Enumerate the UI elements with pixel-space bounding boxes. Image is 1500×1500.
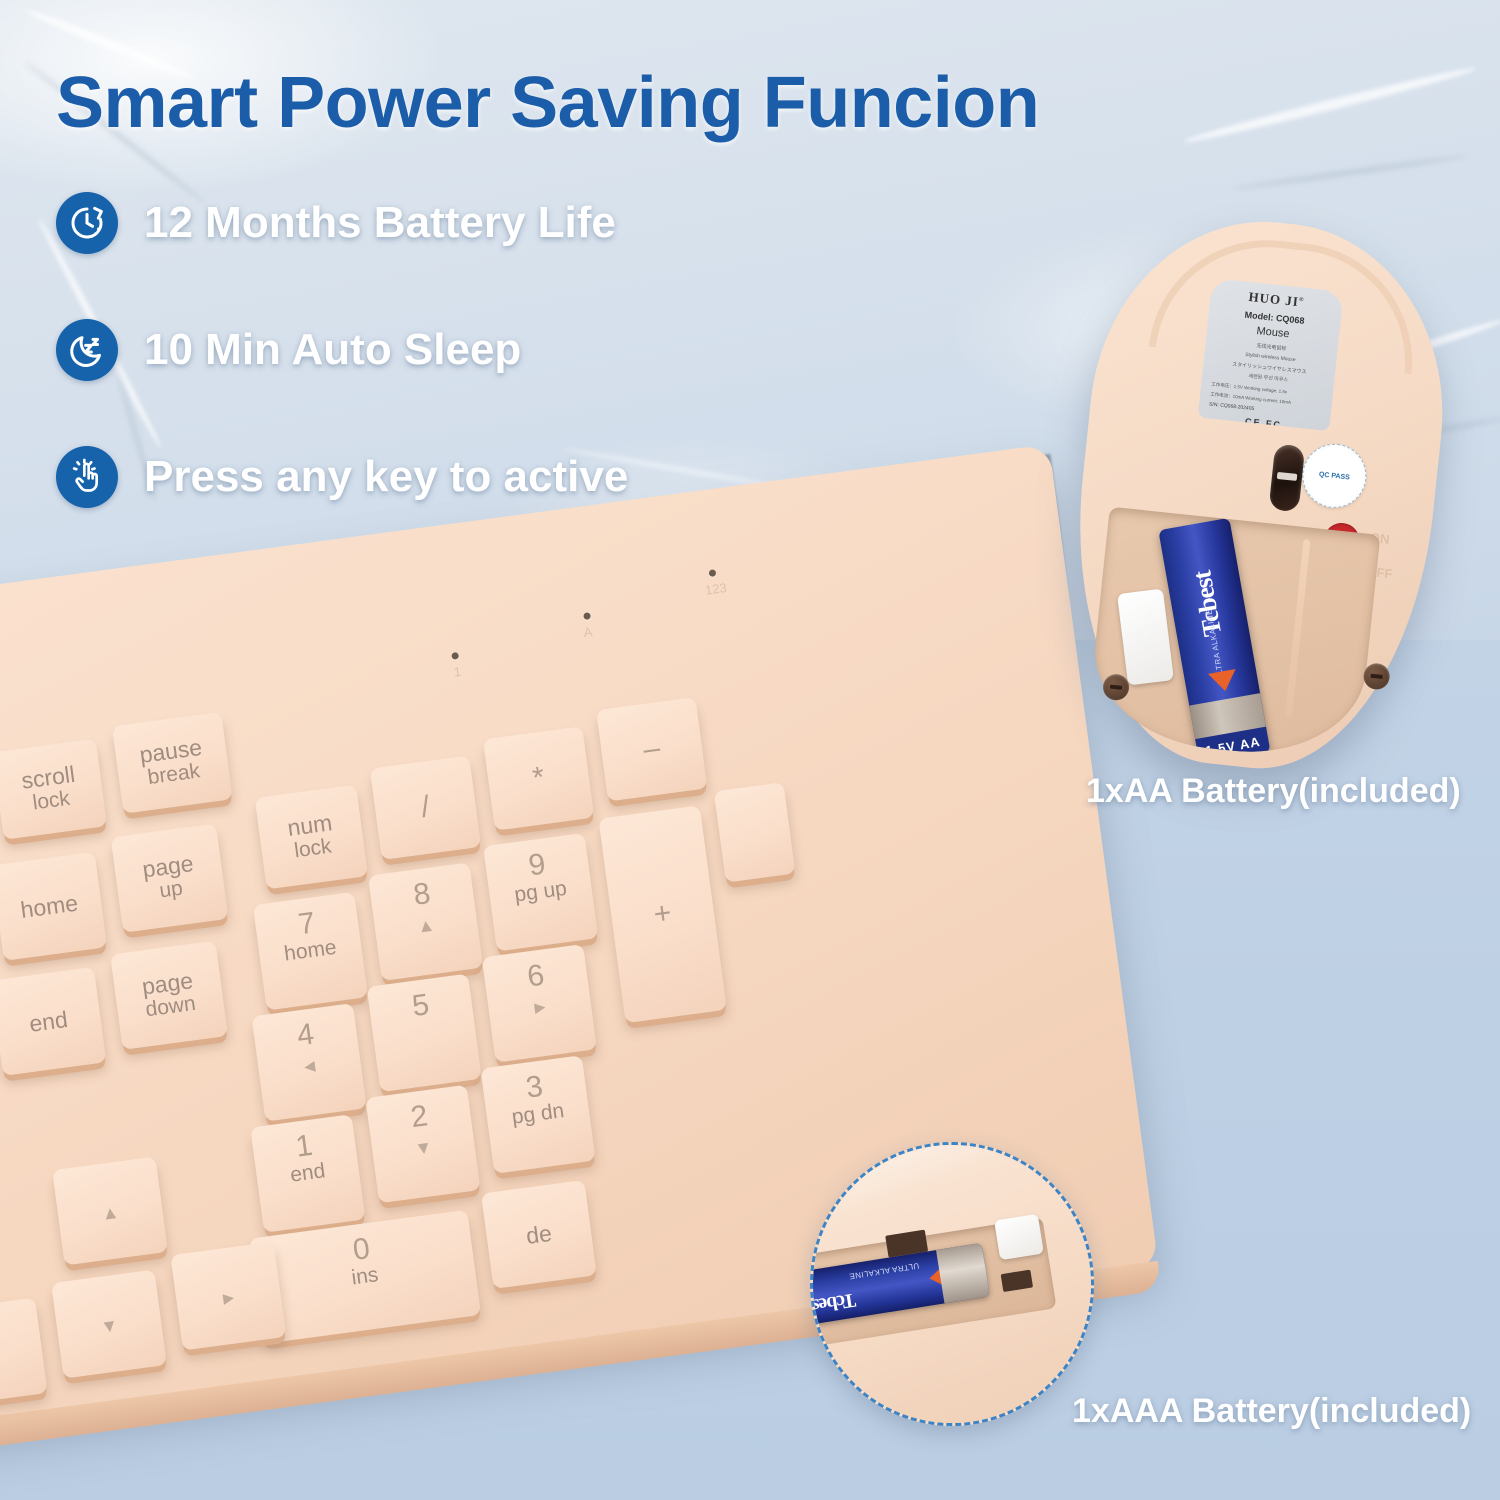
key-sublabel: end — [289, 1161, 327, 1188]
key-label: 5 — [410, 989, 431, 1023]
inset-usb-receiver — [994, 1214, 1044, 1260]
key-multiply[interactable]: * — [483, 726, 594, 830]
led-indicator-scrolllock — [709, 569, 717, 577]
key-sublabel: break — [146, 760, 201, 789]
key-sublabel: home — [283, 937, 338, 966]
inset-keyboard-surface: Tcbest ULTRA ALKALINE — [810, 1142, 1094, 1426]
key-label: ▼ — [99, 1316, 119, 1338]
key-page-up[interactable]: page up — [111, 824, 229, 933]
key-arrow-left[interactable]: ◄ — [0, 1298, 48, 1407]
moon-sleep-icon — [56, 319, 118, 381]
caption-aa-battery: 1xAA Battery(included) — [1086, 772, 1461, 811]
key-label: 2 — [409, 1100, 430, 1134]
usb-receiver-dongle — [1117, 589, 1174, 686]
key-label: 9 — [527, 848, 548, 882]
battery-brand: Tcbest — [810, 1287, 857, 1317]
key-sublabel: lock — [31, 788, 71, 815]
key-label: 1 — [294, 1130, 315, 1164]
key-label: + — [652, 897, 674, 931]
key-scroll-lock[interactable]: scroll lock — [0, 739, 107, 840]
feature-label: 10 Min Auto Sleep — [144, 328, 521, 372]
key-enter-top[interactable] — [714, 782, 796, 882]
key-sublabel: pg up — [513, 878, 568, 907]
key-label: * — [531, 762, 547, 796]
key-num3[interactable]: 3 pg dn — [480, 1055, 595, 1174]
key-arrow-up[interactable]: ▲ — [52, 1156, 168, 1265]
tap-hand-icon — [56, 446, 118, 508]
key-arrow-down[interactable]: ▼ — [51, 1270, 167, 1379]
key-label: / — [419, 791, 432, 824]
key-label: 0 — [351, 1233, 372, 1267]
key-label: end — [28, 1007, 69, 1037]
keyboard-battery-inset: Tcbest ULTRA ALKALINE — [810, 1142, 1094, 1426]
key-divide[interactable]: / — [370, 755, 481, 859]
key-num6[interactable]: 6 ► — [482, 944, 597, 1063]
key-num8[interactable]: 8 ▲ — [368, 862, 483, 981]
key-sublabel: ▲ — [416, 916, 436, 938]
key-sublabel: up — [158, 878, 184, 904]
key-label: – — [641, 732, 662, 766]
qc-pass-text: QC PASS — [1319, 471, 1351, 481]
key-label: de — [525, 1220, 554, 1248]
key-arrow-right[interactable]: ► — [170, 1242, 286, 1351]
key-label: ► — [219, 1288, 239, 1310]
key-label: 6 — [525, 960, 546, 994]
feature-item-battery-life: 12 Months Battery Life — [56, 180, 816, 266]
key-delete-right[interactable]: de — [481, 1180, 597, 1289]
mouse-spec-label: HUO JI® Model: CQ068 Mouse 无线光电鼠标 Stylis… — [1198, 278, 1344, 431]
caption-aaa-battery: 1xAAA Battery(included) — [1072, 1392, 1471, 1431]
key-label: ▲ — [100, 1203, 120, 1225]
battery-chevron-logo — [1208, 669, 1239, 694]
clock-arrow-icon — [56, 192, 118, 254]
qc-pass-sticker: QC PASS — [1299, 441, 1369, 511]
key-num9[interactable]: 9 pg up — [483, 833, 598, 952]
led-indicator-numlock — [451, 652, 459, 660]
page-title: Smart Power Saving Funcion — [56, 62, 1316, 144]
led-label-numlock: 1 — [453, 664, 462, 680]
aa-battery: Tcbest ULTRA ALKALINE 1.5V AA — [1158, 518, 1270, 764]
key-label: 8 — [412, 878, 433, 912]
key-num7[interactable]: 7 home — [253, 892, 368, 1011]
led-label-capslock: A — [583, 624, 594, 640]
key-label: 4 — [295, 1019, 316, 1053]
product-feature-image: Smart Power Saving Funcion 12 Months Bat… — [0, 0, 1500, 1500]
battery-subtitle: ULTRA ALKALINE — [848, 1261, 919, 1281]
led-label-scrolllock: 123 — [704, 580, 727, 598]
key-sublabel: ◄ — [300, 1057, 320, 1079]
feature-item-auto-sleep: 10 Min Auto Sleep — [56, 307, 816, 393]
key-label: home — [19, 890, 79, 922]
key-end[interactable]: end — [0, 967, 106, 1076]
feature-label: 12 Months Battery Life — [144, 201, 616, 245]
screw — [1362, 662, 1391, 691]
key-sublabel: pg dn — [511, 1100, 566, 1129]
key-sublabel: ▼ — [413, 1138, 433, 1160]
key-label: 3 — [524, 1071, 545, 1105]
mouse-detail-plane: HUO JI® Model: CQ068 Mouse 无线光电鼠标 Stylis… — [1054, 205, 1461, 784]
led-indicator-capslock — [583, 612, 591, 620]
key-num4[interactable]: 4 ◄ — [252, 1003, 367, 1122]
battery-contact-tab — [1001, 1270, 1033, 1292]
key-sublabel: down — [144, 993, 197, 1022]
bay-divider — [1285, 539, 1311, 719]
optical-sensor — [1269, 444, 1306, 513]
feature-label: Press any key to active — [144, 455, 628, 499]
key-minus[interactable]: – — [596, 697, 707, 801]
key-sublabel: ins — [350, 1265, 380, 1291]
key-label: 7 — [296, 907, 317, 941]
trademark-symbol: ® — [1299, 297, 1305, 304]
key-page-down[interactable]: page down — [110, 941, 228, 1050]
key-plus[interactable]: + — [598, 805, 726, 1023]
key-sublabel: ► — [530, 998, 550, 1020]
key-num-lock[interactable]: num lock — [255, 785, 368, 890]
key-home[interactable]: home — [0, 852, 107, 961]
key-num5[interactable]: 5 — [367, 974, 482, 1093]
battery-positive-cap — [936, 1243, 990, 1304]
key-pause-break[interactable]: pause break — [112, 712, 233, 814]
key-sublabel: lock — [293, 836, 333, 863]
key-num1[interactable]: 1 end — [250, 1114, 365, 1233]
battery-compartment: Tcbest ULTRA ALKALINE 1.5V AA — [1086, 507, 1381, 764]
mouse: HUO JI® Model: CQ068 Mouse 无线光电鼠标 Stylis… — [1082, 222, 1472, 792]
key-num2[interactable]: 2 ▼ — [365, 1085, 480, 1204]
